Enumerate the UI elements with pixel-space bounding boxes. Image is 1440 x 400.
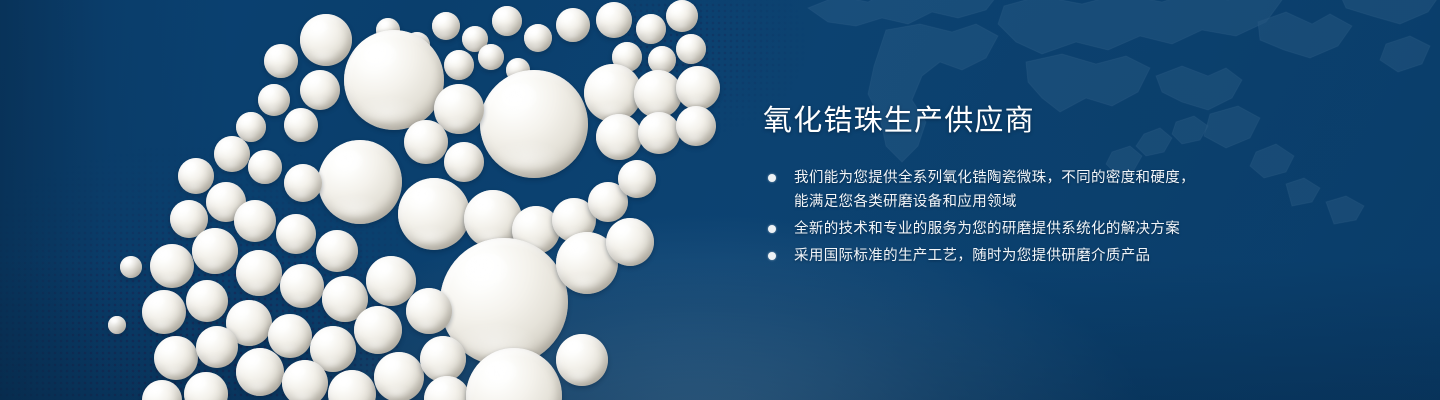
feature-bullet-list: 我们能为您提供全系列氧化锆陶瓷微珠，不同的密度和硬度， 能满足您各类研磨设备和应… — [763, 166, 1293, 268]
hero-banner: 氧化锆珠生产供应商 我们能为您提供全系列氧化锆陶瓷微珠，不同的密度和硬度， 能满… — [0, 0, 1440, 400]
bullet-line: 采用国际标准的生产工艺，随时为您提供研磨介质产品 — [794, 244, 1293, 268]
bullet-line: 我们能为您提供全系列氧化锆陶瓷微珠，不同的密度和硬度， — [794, 166, 1293, 190]
bullet-line: 全新的技术和专业的服务为您的研磨提供系统化的解决方案 — [794, 217, 1293, 241]
dot-icon — [768, 174, 776, 182]
dot-icon — [768, 252, 776, 260]
list-item: 我们能为您提供全系列氧化锆陶瓷微珠，不同的密度和硬度， 能满足您各类研磨设备和应… — [763, 166, 1293, 214]
banner-copy: 氧化锆珠生产供应商 我们能为您提供全系列氧化锆陶瓷微珠，不同的密度和硬度， 能满… — [763, 104, 1293, 271]
bullet-line: 能满足您各类研磨设备和应用领域 — [794, 190, 1293, 214]
dot-icon — [768, 225, 776, 233]
list-item: 采用国际标准的生产工艺，随时为您提供研磨介质产品 — [763, 244, 1293, 268]
page-title: 氧化锆珠生产供应商 — [763, 104, 1293, 139]
list-item: 全新的技术和专业的服务为您的研磨提供系统化的解决方案 — [763, 217, 1293, 241]
zirconia-ceramic-beads-photo — [0, 0, 720, 400]
